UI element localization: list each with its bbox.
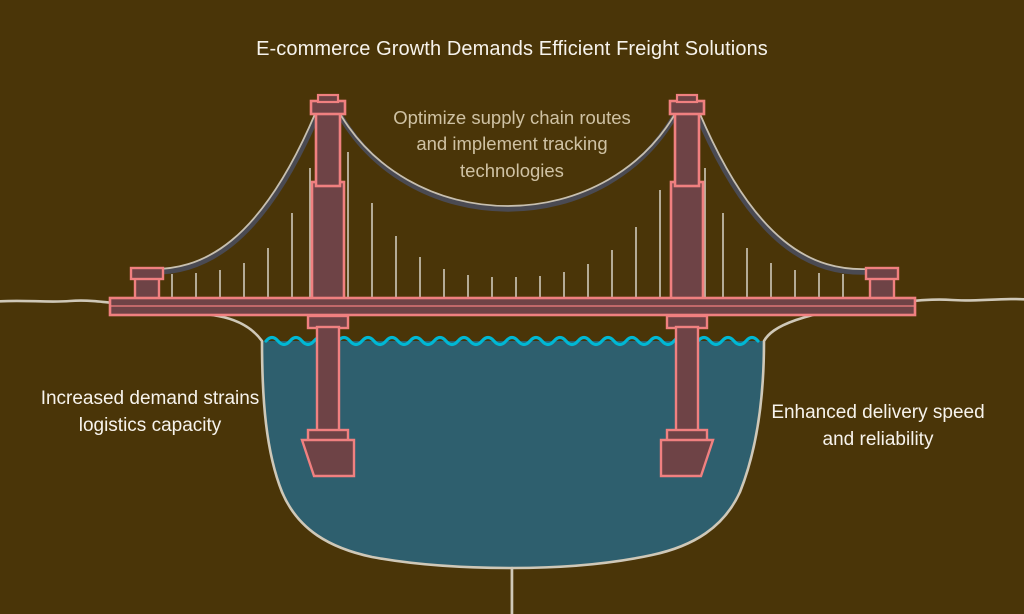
bridge-deck [110, 298, 915, 315]
right-anchor-pylon-cap [866, 268, 898, 279]
bridge-diagram [0, 0, 1024, 614]
annotation-left: Increased demand strains logistics capac… [36, 386, 264, 440]
cable-backstay-left [147, 104, 322, 272]
page-title: E-commerce Growth Demands Efficient Frei… [112, 36, 912, 62]
annotation-center: Optimize supply chain routes and impleme… [388, 105, 636, 184]
annotation-right: Enhanced delivery speed and reliability [762, 400, 994, 454]
left-anchor-pylon-cap [131, 268, 163, 279]
cable-backstay-right [693, 104, 868, 272]
left-tower [311, 95, 345, 302]
right-tower [670, 95, 704, 302]
infographic-canvas: E-commerce Growth Demands Efficient Frei… [0, 0, 1024, 614]
